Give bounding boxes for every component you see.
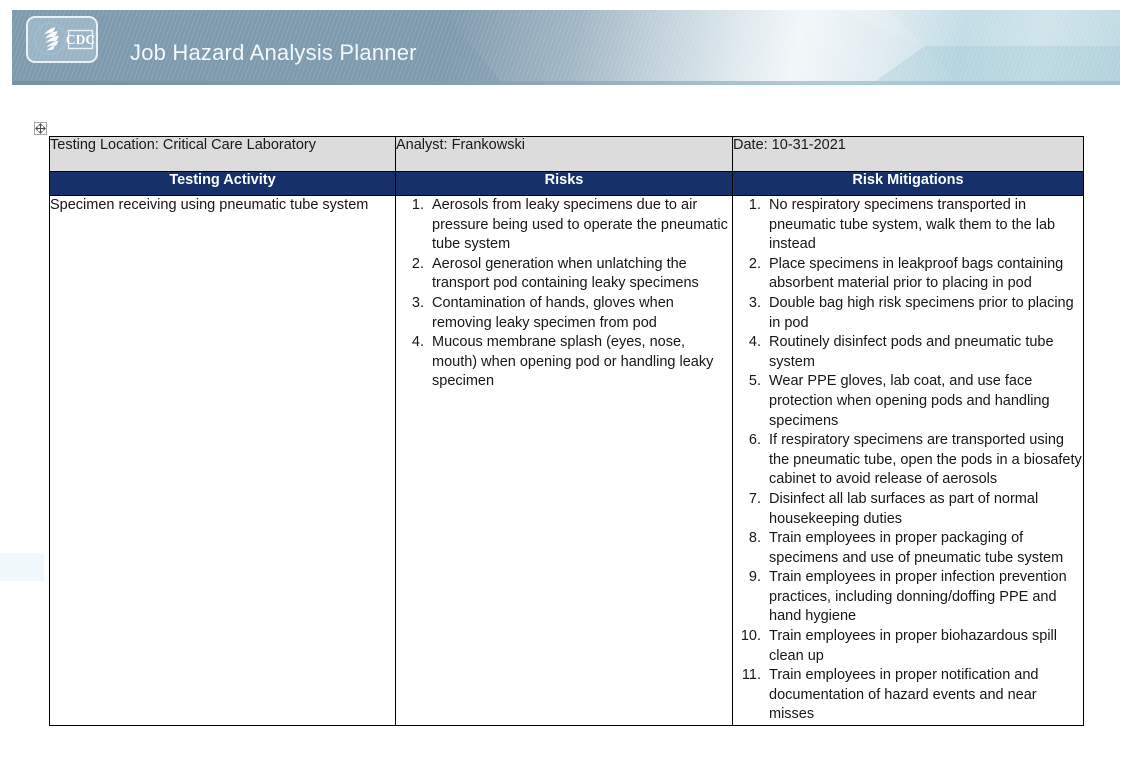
mitigation-item-number: 5. xyxy=(733,372,761,392)
mitigation-item-number: 8. xyxy=(733,529,761,549)
mitigation-item-number: 9. xyxy=(733,568,761,588)
risk-item-text: Aerosols from leaky specimens due to air… xyxy=(432,196,732,255)
mitigation-item: 7.Disinfect all lab surfaces as part of … xyxy=(733,490,1083,529)
risk-item: 1.Aerosols from leaky specimens due to a… xyxy=(396,196,732,255)
mitigation-item-number: 3. xyxy=(733,294,761,314)
mitigation-item: 4.Routinely disinfect pods and pneumatic… xyxy=(733,333,1083,372)
column-header-risks: Risks xyxy=(396,172,733,196)
risk-item-number: 3. xyxy=(396,294,424,314)
cdc-logo-text: CDC xyxy=(66,32,95,47)
column-header-testing-activity: Testing Activity xyxy=(50,172,396,196)
mitigation-item-number: 7. xyxy=(733,490,761,510)
risk-item-text: Aerosol generation when unlatching the t… xyxy=(432,255,732,294)
risk-mitigations-list: 1.No respiratory specimens transported i… xyxy=(733,196,1083,725)
risks-list: 1.Aerosols from leaky specimens due to a… xyxy=(396,196,732,392)
move-cross-icon[interactable] xyxy=(34,122,47,135)
table-row-content: Specimen receiving using pneumatic tube … xyxy=(50,196,1084,726)
risk-item-number: 2. xyxy=(396,255,424,275)
risk-item-text: Mucous membrane splash (eyes, nose, mout… xyxy=(432,333,732,392)
risk-item: 3.Contamination of hands, gloves when re… xyxy=(396,294,732,333)
banner-bottom-edge xyxy=(12,81,1120,85)
risk-item: 4.Mucous membrane splash (eyes, nose, mo… xyxy=(396,333,732,392)
mitigation-item-text: Routinely disinfect pods and pneumatic t… xyxy=(769,333,1083,372)
risk-item: 2.Aerosol generation when unlatching the… xyxy=(396,255,732,294)
mitigation-item: 2.Place specimens in leakproof bags cont… xyxy=(733,255,1083,294)
date-cell[interactable]: Date: 10-31-2021 xyxy=(733,137,1084,172)
mitigation-item: 3.Double bag high risk specimens prior t… xyxy=(733,294,1083,333)
mitigation-item-number: 2. xyxy=(733,255,761,275)
risk-item-number: 4. xyxy=(396,333,424,353)
page-title: Job Hazard Analysis Planner xyxy=(130,40,417,66)
risk-item-text: Contamination of hands, gloves when remo… xyxy=(432,294,732,333)
mitigation-item: 1.No respiratory specimens transported i… xyxy=(733,196,1083,255)
mitigation-item-text: Train employees in proper packaging of s… xyxy=(769,529,1083,568)
analyst-cell[interactable]: Analyst: Frankowski xyxy=(396,137,733,172)
risks-content[interactable]: 1.Aerosols from leaky specimens due to a… xyxy=(396,196,733,726)
table-row-column-headers: Testing Activity Risks Risk Mitigations xyxy=(50,172,1084,196)
mitigation-item: 11.Train employees in proper notificatio… xyxy=(733,666,1083,725)
cdc-logo: CDC xyxy=(26,16,98,63)
mitigation-item: 5.Wear PPE gloves, lab coat, and use fac… xyxy=(733,372,1083,431)
mitigation-item-text: Train employees in proper biohazardous s… xyxy=(769,627,1083,666)
mitigation-item-text: If respiratory specimens are transported… xyxy=(769,431,1083,490)
testing-activity-content[interactable]: Specimen receiving using pneumatic tube … xyxy=(50,196,396,726)
mitigation-item-number: 6. xyxy=(733,431,761,451)
mitigation-item-text: No respiratory specimens transported in … xyxy=(769,196,1083,255)
mitigation-item: 9.Train employees in proper infection pr… xyxy=(733,568,1083,627)
risk-item-number: 1. xyxy=(396,196,424,216)
mitigation-item-number: 4. xyxy=(733,333,761,353)
mitigation-item-text: Place specimens in leakproof bags contai… xyxy=(769,255,1083,294)
mitigation-item-number: 11. xyxy=(733,666,761,686)
mitigation-item-text: Disinfect all lab surfaces as part of no… xyxy=(769,490,1083,529)
mitigation-item: 8.Train employees in proper packaging of… xyxy=(733,529,1083,568)
column-header-risk-mitigations: Risk Mitigations xyxy=(733,172,1084,196)
mitigation-item-text: Train employees in proper infection prev… xyxy=(769,568,1083,627)
mitigation-item-number: 10. xyxy=(733,627,761,647)
table-row-meta: Testing Location: Critical Care Laborato… xyxy=(50,137,1084,172)
testing-location-cell[interactable]: Testing Location: Critical Care Laborato… xyxy=(50,137,396,172)
job-hazard-analysis-table[interactable]: Testing Location: Critical Care Laborato… xyxy=(49,136,1084,726)
mitigation-item-text: Train employees in proper notification a… xyxy=(769,666,1083,725)
mitigation-item-number: 1. xyxy=(733,196,761,216)
risk-mitigations-content[interactable]: 1.No respiratory specimens transported i… xyxy=(733,196,1084,726)
mitigation-item: 6.If respiratory specimens are transport… xyxy=(733,431,1083,490)
mitigation-item: 10.Train employees in proper biohazardou… xyxy=(733,627,1083,666)
mitigation-item-text: Double bag high risk specimens prior to … xyxy=(769,294,1083,333)
mitigation-item-text: Wear PPE gloves, lab coat, and use face … xyxy=(769,372,1083,431)
left-margin-mark xyxy=(0,553,44,581)
